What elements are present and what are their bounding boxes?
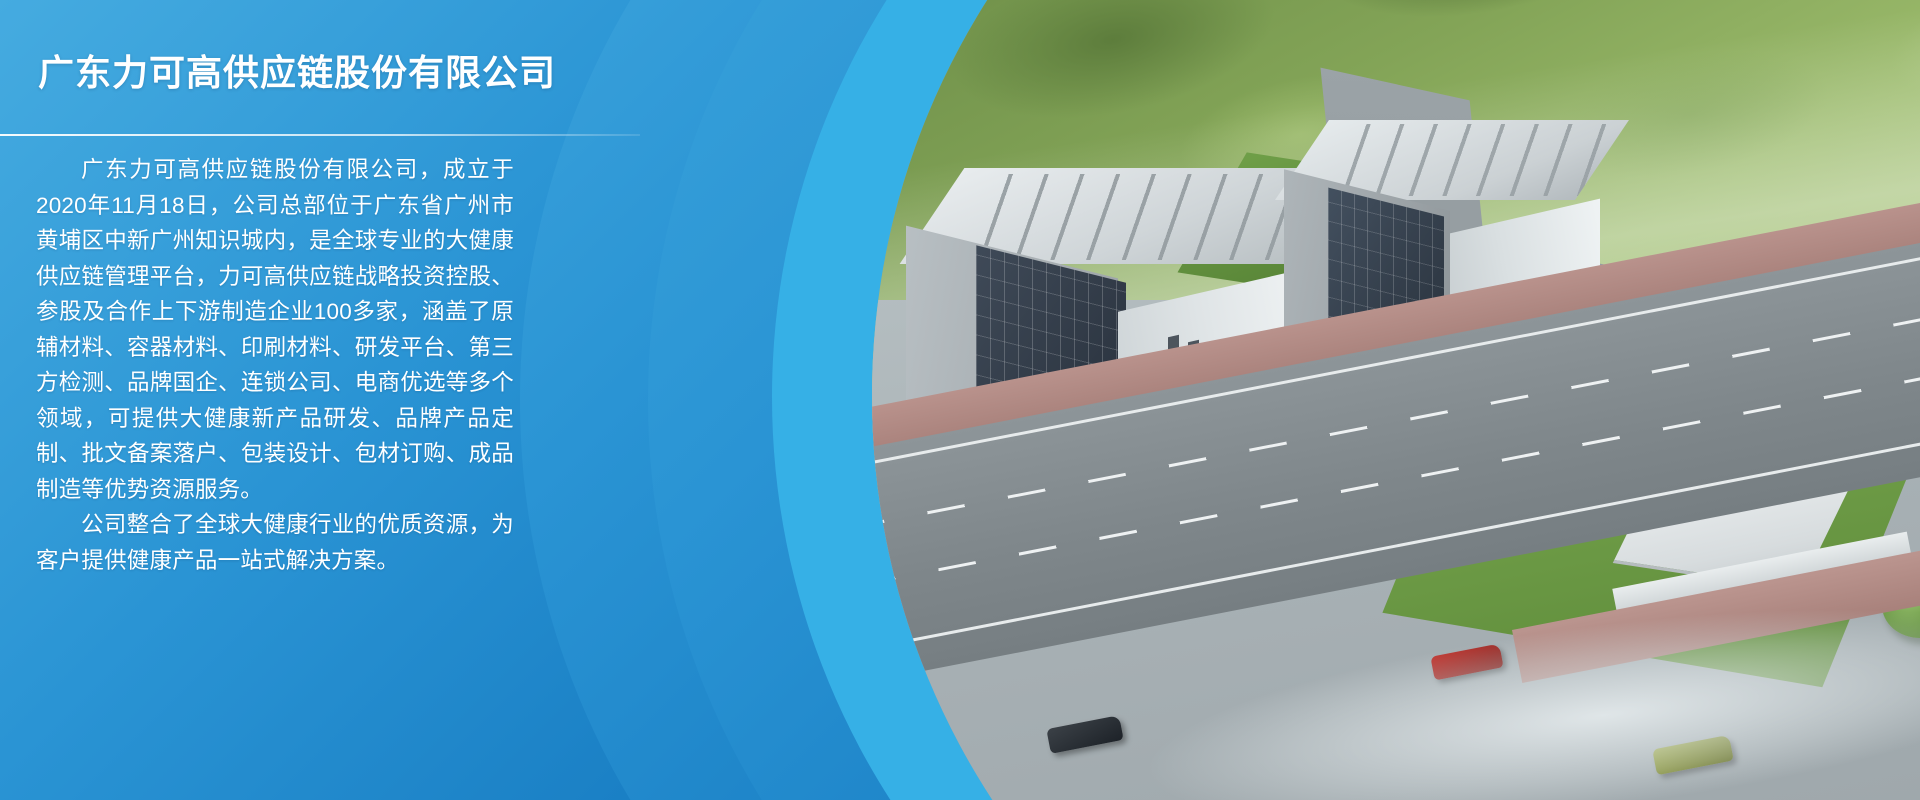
campus-photo [872,0,1920,800]
block-roof-rails [1308,124,1627,196]
company-description: 广东力可高供应链股份有限公司，成立于2020年11月18日，公司总部位于广东省广… [36,152,514,578]
page-title: 广东力可高供应链股份有限公司 [38,50,578,97]
campus-render-scene [872,0,1920,800]
text-column: 广东力可高供应链股份有限公司 广东力可高供应链股份有限公司，成立于2020年11… [0,0,620,800]
campus-photo-circle [872,0,1920,800]
banner-root: 广东力可高供应链股份有限公司 广东力可高供应链股份有限公司，成立于2020年11… [0,0,1920,800]
description-paragraph-1: 广东力可高供应链股份有限公司，成立于2020年11月18日，公司总部位于广东省广… [36,152,514,507]
title-divider [0,134,640,136]
description-paragraph-2: 公司整合了全球大健康行业的优质资源，为客户提供健康产品一站式解决方案。 [36,507,514,578]
